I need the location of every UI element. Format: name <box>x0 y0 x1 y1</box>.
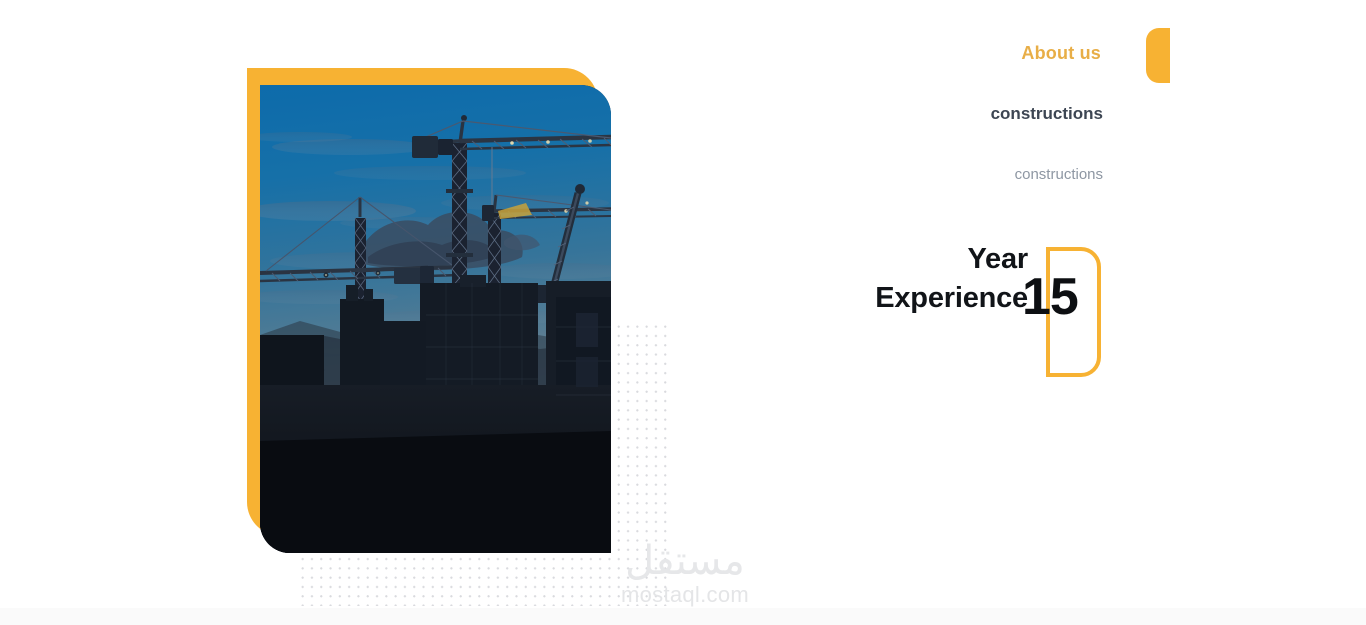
section-eyebrow: About us <box>1021 43 1101 64</box>
experience-stat-number: 15 <box>1022 271 1078 323</box>
photo-block <box>247 68 598 536</box>
page-canvas: About us constructions constructions Yea… <box>0 0 1366 625</box>
section-subcopy: constructions <box>1015 166 1103 183</box>
section-headline: constructions <box>991 104 1103 124</box>
experience-stat-label-line1: Year <box>838 240 1028 279</box>
about-us-text-column: About us constructions constructions Yea… <box>780 0 1366 625</box>
experience-stat-label: Year Experience <box>838 240 1028 318</box>
experience-stat-label-line2: Experience <box>838 279 1028 318</box>
accent-tab <box>1146 28 1170 83</box>
experience-stat: Year Experience 15 <box>826 240 1156 385</box>
construction-site-photo <box>260 85 611 553</box>
